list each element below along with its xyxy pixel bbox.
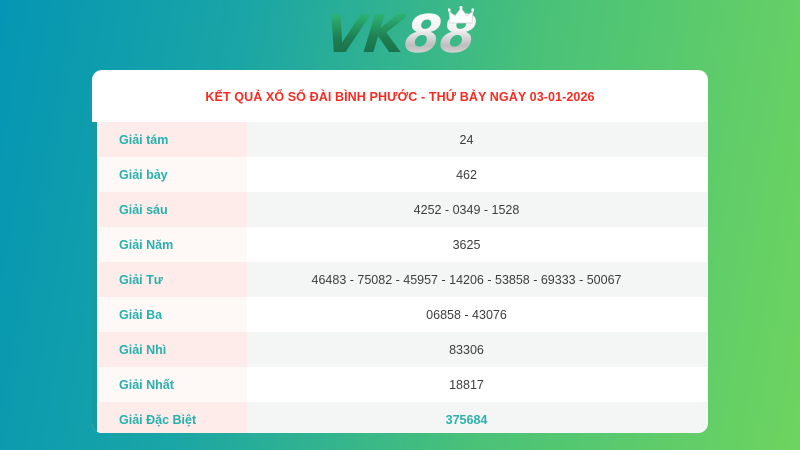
crown-icon <box>448 6 474 26</box>
table-row: Giải Nhì 83306 <box>92 332 708 367</box>
page-title: KẾT QUẢ XỔ SỐ ĐÀI BÌNH PHƯỚC - THỨ BẢY N… <box>92 70 708 122</box>
prize-value-special: 375684 <box>247 402 708 433</box>
prize-label: Giải Nhất <box>92 367 247 402</box>
prize-value: 46483 - 75082 - 45957 - 14206 - 53858 - … <box>247 262 708 297</box>
prize-value: 4252 - 0349 - 1528 <box>247 192 708 227</box>
prize-label: Giải Đặc Biệt <box>92 402 247 433</box>
prize-label: Giải Năm <box>92 227 247 262</box>
site-logo[interactable]: VK 88 <box>0 0 800 70</box>
table-row: Giải bảy 462 <box>92 157 708 192</box>
prize-value: 462 <box>247 157 708 192</box>
prize-value: 83306 <box>247 332 708 367</box>
table-row: Giải tám 24 <box>92 122 708 157</box>
prize-label: Giải bảy <box>92 157 247 192</box>
prize-value: 06858 - 43076 <box>247 297 708 332</box>
table-row: Giải Tư 46483 - 75082 - 45957 - 14206 - … <box>92 262 708 297</box>
lottery-result-table: Giải tám 24 Giải bảy 462 Giải sáu 4252 -… <box>92 122 708 433</box>
logo-text-vk: VK <box>322 9 406 61</box>
table-row-special: Giải Đặc Biệt 375684 <box>92 402 708 433</box>
prize-label: Giải Tư <box>92 262 247 297</box>
table-row: Giải Ba 06858 - 43076 <box>92 297 708 332</box>
table-row: Giải Nhất 18817 <box>92 367 708 402</box>
prize-value: 3625 <box>247 227 708 262</box>
prize-label: Giải Nhì <box>92 332 247 367</box>
prize-label: Giải sáu <box>92 192 247 227</box>
prize-label: Giải Ba <box>92 297 247 332</box>
prize-value: 24 <box>247 122 708 157</box>
prize-value: 18817 <box>247 367 708 402</box>
prize-label: Giải tám <box>92 122 247 157</box>
table-row: Giải Năm 3625 <box>92 227 708 262</box>
logo-text: VK 88 <box>325 9 475 61</box>
table-row: Giải sáu 4252 - 0349 - 1528 <box>92 192 708 227</box>
lottery-result-card: KẾT QUẢ XỔ SỐ ĐÀI BÌNH PHƯỚC - THỨ BẢY N… <box>92 70 708 433</box>
